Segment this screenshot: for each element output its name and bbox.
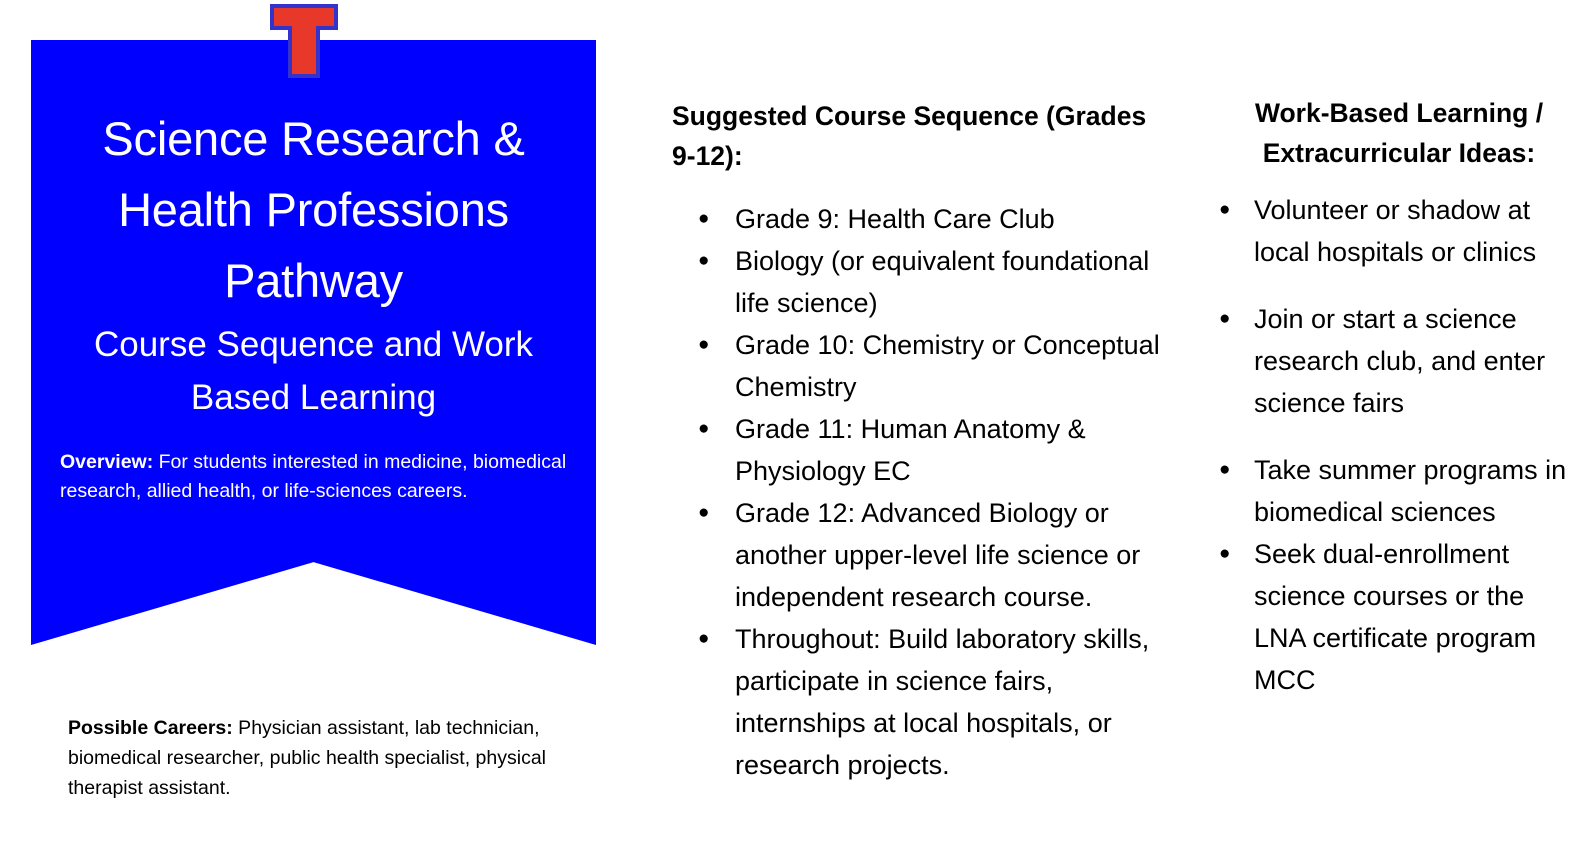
work-based-learning-list: ●Volunteer or shadow at local hospitals … — [1219, 189, 1579, 701]
list-item-label: Volunteer or shadow at local hospitals o… — [1254, 195, 1536, 267]
list-item-label: Throughout: Build laboratory skills, par… — [735, 624, 1149, 780]
bullet-icon: ● — [698, 240, 718, 282]
bullet-icon: ● — [698, 618, 718, 660]
possible-careers: Possible Careers: Physician assistant, l… — [68, 713, 588, 803]
course-sequence-heading: Suggested Course Sequence (Grades 9-12): — [672, 0, 1172, 176]
list-item-label: Take summer programs in biomedical scien… — [1254, 455, 1566, 527]
course-sequence-list: ●Grade 9: Health Care Club ●Biology (or … — [672, 198, 1172, 786]
list-item: ●Throughout: Build laboratory skills, pa… — [672, 618, 1172, 786]
list-item: ●Take summer programs in biomedical scie… — [1219, 449, 1579, 533]
list-item-label: Grade 12: Advanced Biology or another up… — [735, 498, 1140, 612]
list-item-label: Seek dual-enrollment science courses or … — [1254, 539, 1536, 695]
bullet-icon: ● — [1219, 449, 1239, 491]
work-based-learning-column: Work-Based Learning / Extracurricular Id… — [1219, 0, 1579, 701]
bullet-icon: ● — [698, 408, 718, 450]
list-item-label: Biology (or equivalent foundational life… — [735, 246, 1149, 318]
list-item: ●Volunteer or shadow at local hospitals … — [1219, 189, 1579, 273]
bullet-icon: ● — [1219, 189, 1239, 231]
list-item: ●Grade 11: Human Anatomy & Physiology EC — [672, 408, 1172, 492]
bullet-icon: ● — [1219, 533, 1239, 575]
list-item: ●Grade 9: Health Care Club — [672, 198, 1172, 240]
list-item-label: Grade 9: Health Care Club — [735, 204, 1055, 234]
bullet-icon: ● — [698, 492, 718, 534]
banner-overview: Overview: For students interested in med… — [31, 448, 596, 506]
school-mascot-t-icon — [268, 2, 340, 80]
banner-subtitle: Course Sequence and Work Based Learning — [31, 318, 596, 424]
banner-title: Science Research & Health Professions Pa… — [31, 103, 596, 316]
list-item-label: Grade 10: Chemistry or Conceptual Chemis… — [735, 330, 1160, 402]
banner-text-group: Science Research & Health Professions Pa… — [31, 40, 596, 506]
bullet-icon: ● — [698, 324, 718, 366]
banner-column: Science Research & Health Professions Pa… — [0, 0, 640, 848]
list-item: ●Grade 12: Advanced Biology or another u… — [672, 492, 1172, 618]
list-item: ●Seek dual-enrollment science courses or… — [1219, 533, 1579, 701]
list-item: ●Grade 10: Chemistry or Conceptual Chemi… — [672, 324, 1172, 408]
bullet-icon: ● — [698, 198, 718, 240]
list-item-label: Grade 11: Human Anatomy & Physiology EC — [735, 414, 1086, 486]
list-item: ●Join or start a science research club, … — [1219, 298, 1579, 424]
course-sequence-column: Suggested Course Sequence (Grades 9-12):… — [672, 0, 1172, 786]
list-item: ●Biology (or equivalent foundational lif… — [672, 240, 1172, 324]
work-based-learning-heading: Work-Based Learning / Extracurricular Id… — [1219, 0, 1579, 173]
careers-label: Possible Careers: — [68, 717, 233, 739]
bullet-icon: ● — [1219, 298, 1239, 340]
list-item-label: Join or start a science research club, a… — [1254, 304, 1545, 418]
overview-label: Overview: — [60, 451, 153, 473]
